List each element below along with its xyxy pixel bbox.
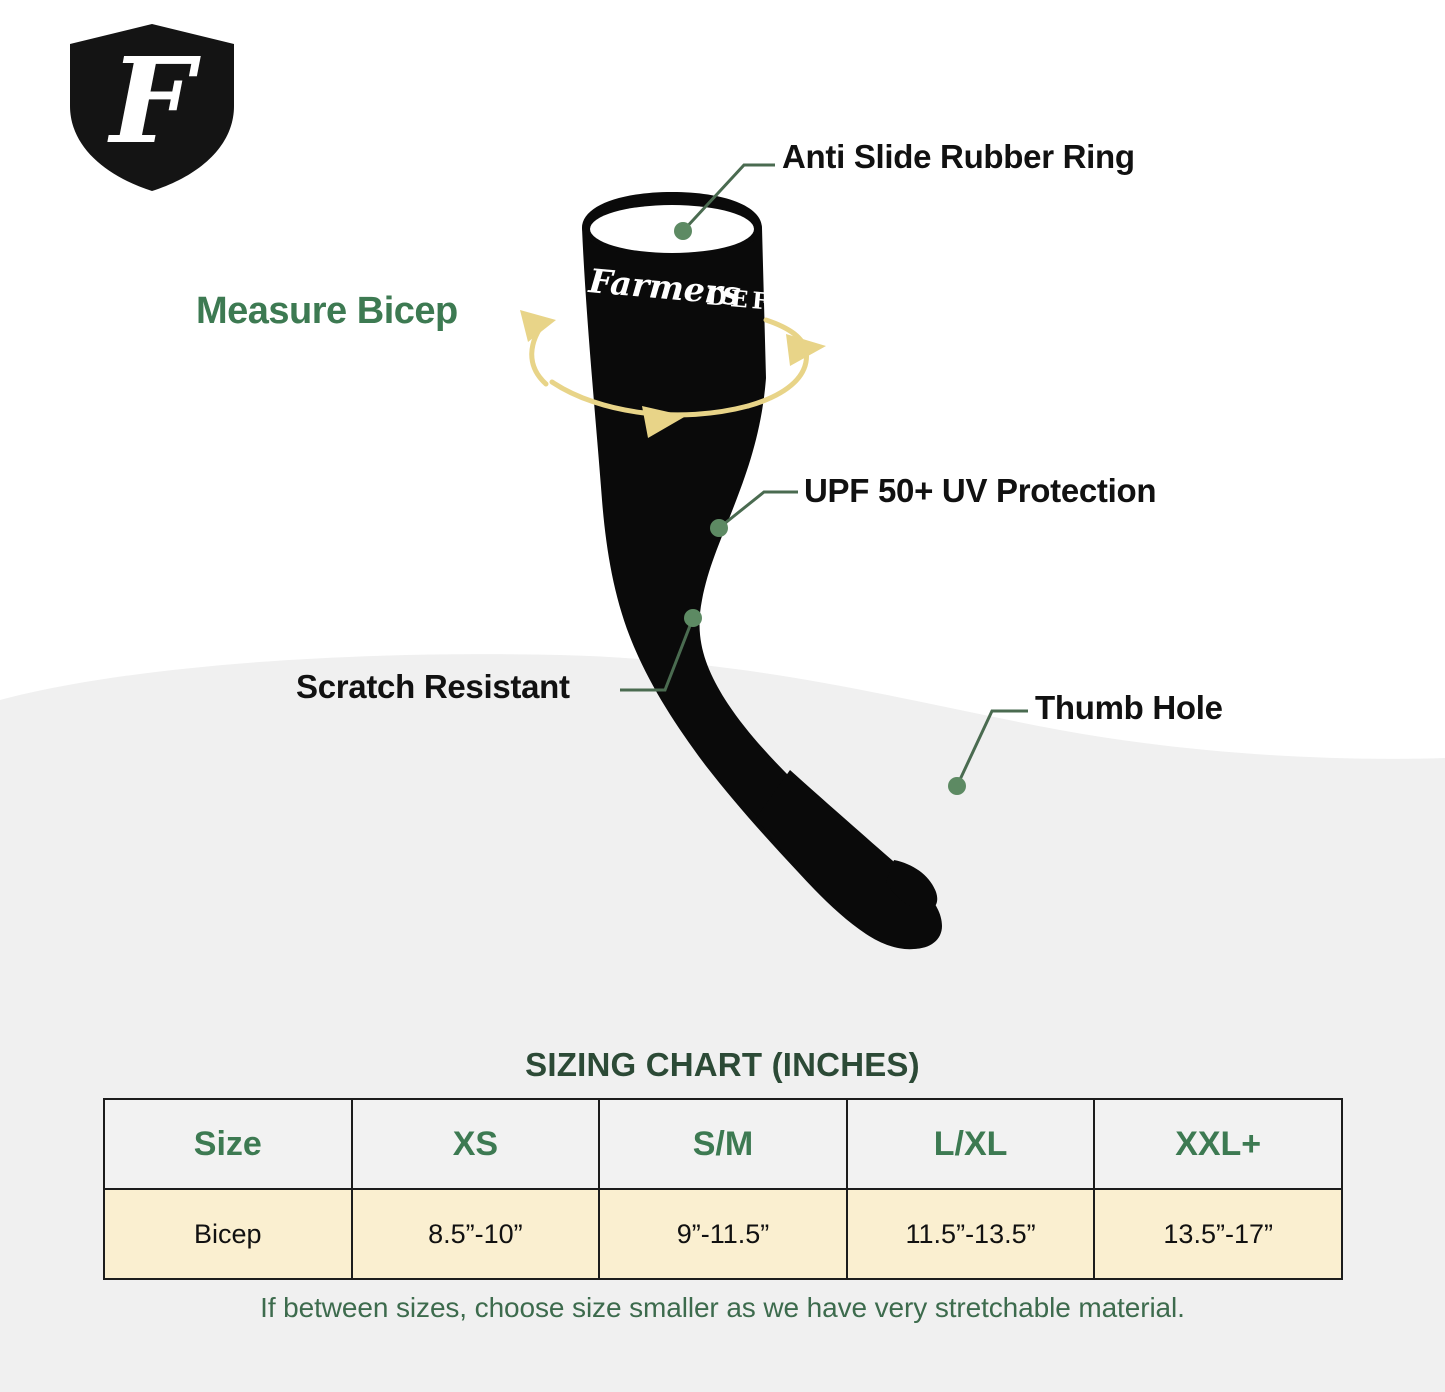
table-row: Bicep 8.5”-10” 9”-11.5” 11.5”-13.5” 13.5… — [104, 1189, 1342, 1279]
callout-label-scratch-resistant: Scratch Resistant — [296, 670, 570, 703]
sizing-chart-table: Size XS S/M L/XL XXL+ Bicep 8.5”-10” 9”-… — [103, 1098, 1343, 1280]
arm-sleeve-illustration: Farmers DEFENSE — [490, 170, 1050, 960]
sizing-chart-footnote: If between sizes, choose size smaller as… — [0, 1292, 1445, 1324]
callout-label-upf-uv-protection: UPF 50+ UV Protection — [804, 474, 1156, 507]
table-header-xxl: XXL+ — [1094, 1099, 1342, 1189]
table-header-xs: XS — [352, 1099, 600, 1189]
table-header-row: Size XS S/M L/XL XXL+ — [104, 1099, 1342, 1189]
shield-logo-icon: F — [52, 14, 252, 202]
table-cell-bicep-xs: 8.5”-10” — [352, 1189, 600, 1279]
callout-label-anti-slide-rubber-ring: Anti Slide Rubber Ring — [782, 140, 1135, 173]
table-cell-bicep-sm: 9”-11.5” — [599, 1189, 847, 1279]
shield-logo-letter: F — [107, 31, 201, 170]
sizing-infographic: F Farmers DEFENSE — [0, 0, 1445, 1392]
callout-label-thumb-hole: Thumb Hole — [1035, 691, 1223, 724]
table-header-lxl: L/XL — [847, 1099, 1095, 1189]
sizing-chart-title: SIZING CHART (INCHES) — [0, 1046, 1445, 1084]
table-row-label-bicep: Bicep — [104, 1189, 352, 1279]
table-header-sm: S/M — [599, 1099, 847, 1189]
table-cell-bicep-lxl: 11.5”-13.5” — [847, 1189, 1095, 1279]
measure-bicep-instruction: Measure Bicep — [196, 292, 458, 330]
table-cell-bicep-xxl: 13.5”-17” — [1094, 1189, 1342, 1279]
table-header-size: Size — [104, 1099, 352, 1189]
